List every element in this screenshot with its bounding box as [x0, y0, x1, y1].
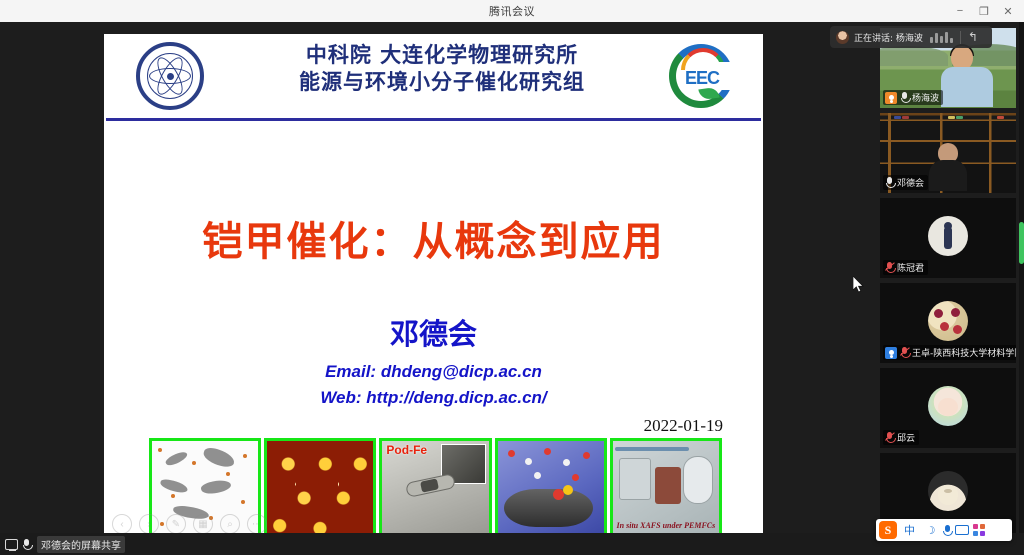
participant-namebar: 王卓-陕西科技大学材料学院	[883, 345, 1016, 360]
speaking-label: 正在讲话: 杨海波	[854, 31, 923, 44]
slide-header: 中科院 大连化学物理研究所 能源与环境小分子催化研究组 EEC	[104, 34, 763, 118]
user-badge-icon	[885, 347, 897, 359]
toolbar-divider	[960, 31, 961, 44]
institution-line-1: 中科院 大连化学物理研究所	[272, 42, 612, 69]
figure-xafs-photo: In situ XAFS under PEMFCs	[610, 438, 722, 536]
avatar	[928, 301, 968, 341]
participant-tile-1[interactable]: 邓德会	[880, 113, 1016, 193]
window-controls: − ❐ ✕	[948, 0, 1020, 22]
slide-grid-button[interactable]: ▦	[193, 514, 213, 534]
avatar	[928, 386, 968, 426]
participant-name: 邱云	[897, 431, 915, 444]
ime-mode-toggle[interactable]: 中	[901, 522, 918, 538]
participant-namebar: 杨海波	[883, 90, 943, 105]
eec-logo-icon: EEC	[669, 44, 733, 108]
slide-contact: Email: dhdeng@dicp.ac.cn Web: http://den…	[104, 359, 763, 412]
figure-caption-pod-fe: Pod-Fe	[386, 443, 427, 457]
maximize-button[interactable]: ❐	[972, 0, 996, 22]
window-title: 腾讯会议	[489, 3, 535, 19]
previous-slide-button[interactable]: ‹	[112, 514, 132, 534]
zoom-button[interactable]: ⌕	[220, 514, 240, 534]
header-divider	[106, 118, 761, 121]
screen-share-area[interactable]: 中科院 大连化学物理研究所 能源与环境小分子催化研究组 EEC 铠甲催化：从概念…	[0, 22, 876, 533]
participant-namebar: 陈冠君	[883, 260, 928, 275]
participant-name: 杨海波	[912, 91, 939, 104]
eec-logo-text: EEC	[679, 68, 725, 89]
close-button[interactable]: ✕	[996, 0, 1020, 22]
participant-tile-3[interactable]: 王卓-陕西科技大学材料学院	[880, 283, 1016, 363]
pen-tool-button[interactable]: ✎	[166, 514, 186, 534]
participant-name: 邓德会	[897, 176, 924, 189]
participant-tile-4[interactable]: 邱云	[880, 368, 1016, 448]
microphone-icon	[22, 539, 31, 550]
voice-input-icon[interactable]	[943, 525, 951, 536]
microphone-muted-icon	[885, 432, 894, 443]
participant-tile-2[interactable]: 陈冠君	[880, 198, 1016, 278]
host-badge-icon	[885, 92, 897, 104]
microphone-muted-icon	[885, 262, 894, 273]
participant-name: 陈冠君	[897, 261, 924, 274]
slide-title: 铠甲催化：从概念到应用	[104, 209, 763, 267]
back-arrow-icon[interactable]: ↰	[968, 30, 978, 44]
presenter-controls[interactable]: ‹ › ✎ ▦ ⌕ ⋯	[112, 514, 267, 534]
statusbar: 邓德会的屏幕共享	[0, 533, 1024, 555]
figure-caption-xafs: In situ XAFS under PEMFCs	[616, 521, 716, 530]
participant-namebar: 邓德会	[883, 175, 928, 190]
figure-tem-pod-fe: Pod-Fe	[379, 438, 491, 536]
avatar	[928, 216, 968, 256]
apps-grid-icon[interactable]	[973, 524, 985, 536]
slide-author: 邓德会	[104, 311, 763, 353]
slide-date: 2022-01-19	[644, 416, 723, 436]
keyboard-icon[interactable]	[955, 525, 969, 535]
institution-heading: 中科院 大连化学物理研究所 能源与环境小分子催化研究组	[272, 42, 612, 96]
audio-level-icon	[930, 31, 953, 43]
microphone-icon	[900, 92, 909, 103]
mouse-cursor	[853, 276, 865, 294]
figure-nanotube-model	[495, 438, 607, 536]
next-slide-button[interactable]: ›	[139, 514, 159, 534]
participant-rail[interactable]: 杨海波 邓德会	[876, 22, 1024, 533]
speaker-avatar	[836, 31, 849, 44]
meeting-stage: 中科院 大连化学物理研究所 能源与环境小分子催化研究组 EEC 铠甲催化：从概念…	[0, 22, 1024, 533]
participant-video-person	[928, 143, 968, 191]
figure-stm-image	[264, 438, 376, 536]
monitor-icon	[5, 539, 18, 550]
institution-line-2: 能源与环境小分子催化研究组	[272, 69, 612, 96]
slide-website: Web: http://deng.dicp.ac.cn/	[104, 385, 763, 411]
participant-video-person	[943, 46, 995, 104]
moon-icon[interactable]: ☽	[922, 524, 939, 537]
sogou-logo-icon[interactable]: S	[879, 521, 897, 539]
presentation-slide[interactable]: 中科院 大连化学物理研究所 能源与环境小分子催化研究组 EEC 铠甲催化：从概念…	[104, 34, 763, 542]
participant-namebar: 邱云	[883, 430, 919, 445]
microphone-muted-icon	[900, 347, 909, 358]
microphone-icon	[885, 177, 894, 188]
dicp-logo-icon	[136, 42, 204, 110]
minimize-button[interactable]: −	[948, 0, 972, 22]
slide-email: Email: dhdeng@dicp.ac.cn	[104, 359, 763, 385]
ime-toolbar[interactable]: S 中 ☽	[876, 519, 1012, 541]
scrollbar-thumb[interactable]	[1019, 222, 1024, 264]
speaking-indicator[interactable]: 正在讲话: 杨海波 ↰	[830, 26, 992, 48]
participant-scrollbar[interactable]	[1019, 22, 1024, 533]
participant-name: 王卓-陕西科技大学材料学院	[912, 346, 1016, 359]
more-options-button[interactable]: ⋯	[247, 514, 267, 534]
avatar	[928, 471, 968, 511]
screen-share-status: 邓德会的屏幕共享	[37, 536, 125, 553]
window-titlebar: 腾讯会议 − ❐ ✕	[0, 0, 1024, 22]
